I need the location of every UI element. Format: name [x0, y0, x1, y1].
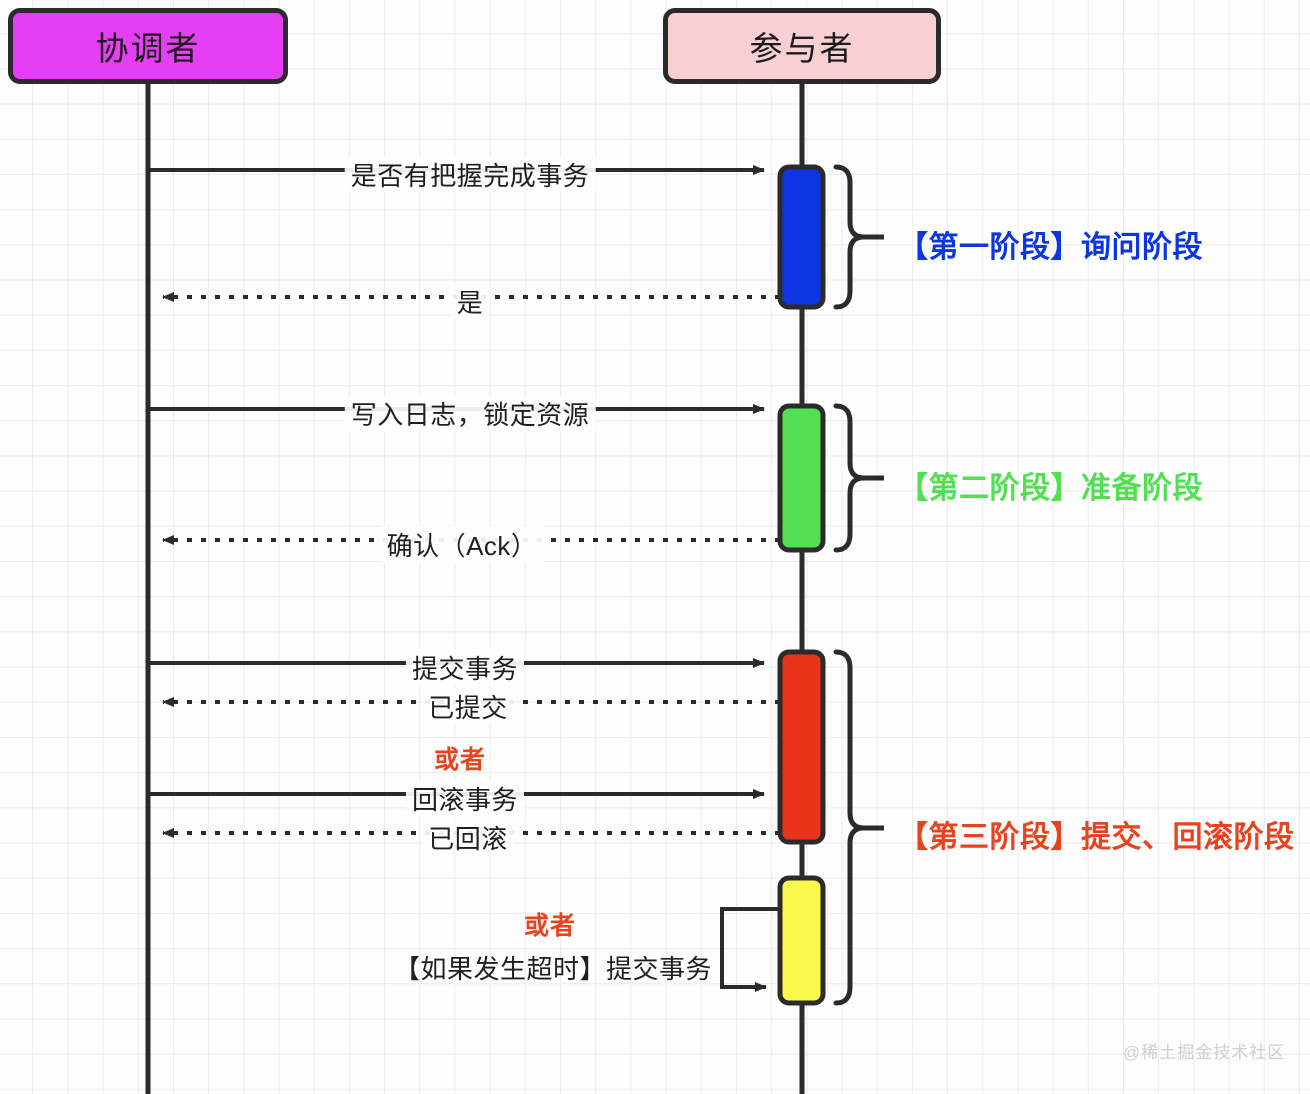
alt-marker-alt2: 或者: [524, 906, 576, 942]
activation-bar-act3: [780, 652, 823, 842]
message-label-m1: 是否有把握完成事务: [345, 156, 596, 193]
message-label-m6: 已提交: [422, 688, 514, 725]
message-label-m4: 确认（Ack）: [381, 526, 544, 563]
activation-bar-act4: [780, 878, 823, 1003]
activation-bar-act1: [780, 167, 823, 307]
phase-brace-p3: [836, 652, 884, 1003]
message-label-m5: 提交事务: [406, 649, 524, 686]
diagram-vector-layer: [0, 0, 1310, 1094]
message-label-m7: 回滚事务: [406, 780, 524, 817]
message-label-m2: 是: [451, 283, 490, 320]
actor-label-coordinator: 协调者: [96, 22, 201, 70]
phase-label-p1: 【第一阶段】询问阶段: [898, 222, 1203, 266]
activation-bar-act2: [780, 406, 823, 550]
phase-label-p2: 【第二阶段】准备阶段: [898, 463, 1203, 507]
message-label-m9: 【如果发生超时】提交事务: [394, 949, 712, 986]
actor-label-participant: 参与者: [750, 22, 855, 70]
message-arrow-m9-self-loop: [722, 909, 781, 987]
phase-brace-p1: [836, 167, 884, 307]
message-label-m8: 已回滚: [422, 819, 514, 856]
phase-brace-p2: [836, 406, 884, 550]
message-label-m3: 写入日志，锁定资源: [345, 395, 596, 432]
actor-box-coordinator[interactable]: 协调者: [8, 8, 288, 84]
actor-box-participant[interactable]: 参与者: [663, 8, 941, 84]
phase-label-p3: 【第三阶段】提交、回滚阶段: [898, 812, 1295, 856]
sequence-diagram-canvas: 协调者 参与者 是否有把握完成事务 是 写入日志，锁定资源 确认（Ack） 提交…: [0, 0, 1310, 1094]
watermark: @稀土掘金技术社区: [1123, 1038, 1285, 1063]
alt-marker-alt1: 或者: [434, 740, 486, 776]
